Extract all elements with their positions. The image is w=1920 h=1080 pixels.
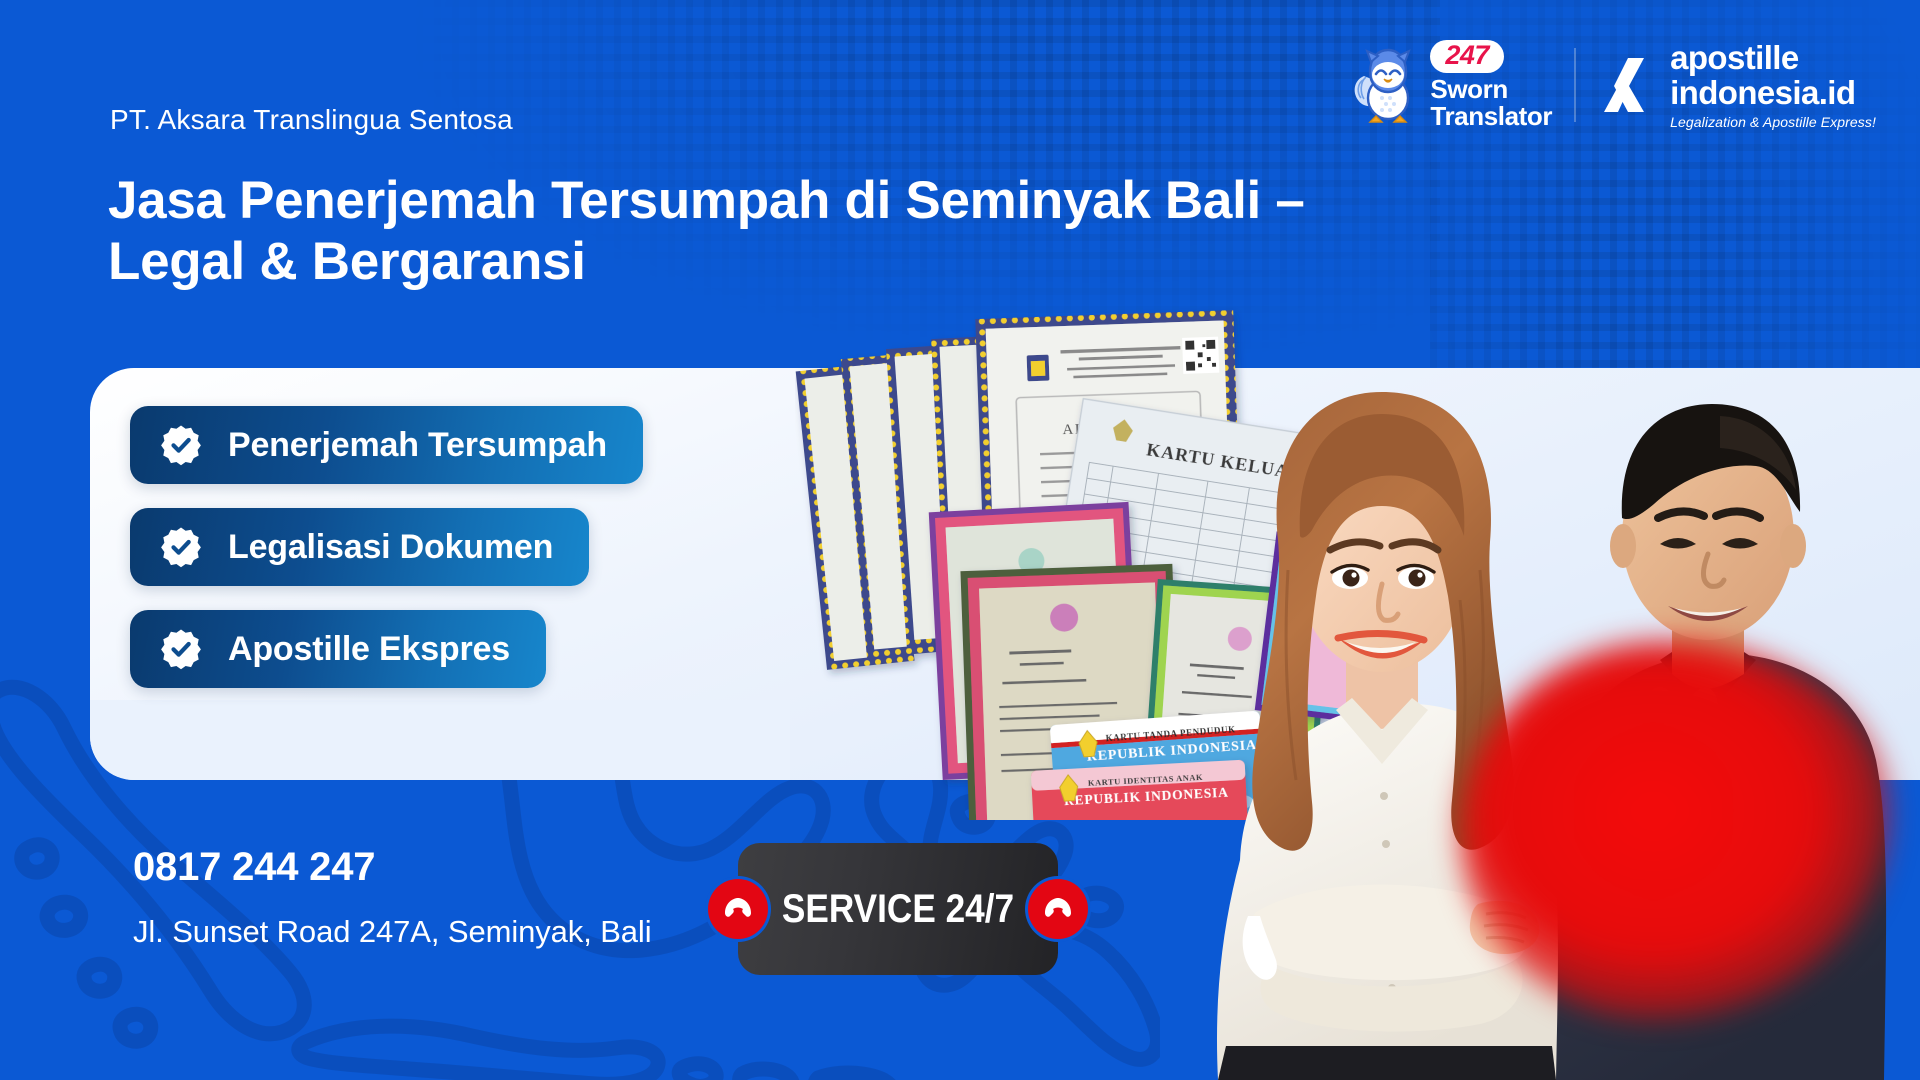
verified-check-badge-icon [160,424,202,466]
content-panel-bottom-corner [90,700,790,780]
verified-check-badge-icon [160,526,202,568]
logo-247-sworn-translator[interactable]: 247 Sworn Translator [1350,40,1552,129]
phone-handset-icon-right [1028,879,1088,939]
feature-list: Penerjemah Tersumpah Legalisasi Dokumen … [130,406,643,712]
apostille-a-mark-icon [1598,56,1656,114]
logo-247-badge: 247 [1430,40,1504,73]
contact-address: Jl. Sunset Road 247A, Seminyak, Bali [133,914,652,950]
feature-pill-penerjemah-tersumpah[interactable]: Penerjemah Tersumpah [130,406,643,484]
logo-translator-text: Translator [1430,103,1552,129]
headline-line-1: Jasa Penerjemah Tersumpah di Seminyak Ba… [108,171,1305,230]
logo-divider [1574,48,1576,122]
feature-pill-legalisasi-dokumen[interactable]: Legalisasi Dokumen [130,508,589,586]
logo-sworn-text: Sworn [1430,76,1552,102]
phone-handset-icon-left [708,879,768,939]
logo-apostille-indonesia[interactable]: apostille indonesia.id Legalization & Ap… [1598,41,1876,129]
contact-phone[interactable]: 0817 244 247 [133,845,375,890]
staff-photo [1160,240,1920,1080]
logo-apostille-line-2: indonesia.id [1670,76,1876,109]
company-name: PT. Aksara Translingua Sentosa [110,104,513,136]
promo-banner: PT. Aksara Translingua Sentosa Jasa Pene… [0,0,1920,1080]
feature-pill-label: Penerjemah Tersumpah [228,426,607,465]
feature-pill-label: Legalisasi Dokumen [228,528,553,567]
service-badge-label: SERVICE 24/7 [757,843,1039,975]
feature-pill-apostille-ekspres[interactable]: Apostille Ekspres [130,610,546,688]
logo-apostille-tagline: Legalization & Apostille Express! [1670,115,1876,129]
service-24-7-badge[interactable]: SERVICE 24/7 [738,843,1058,975]
feature-pill-label: Apostille Ekspres [228,630,510,669]
owl-icon [1350,46,1420,124]
verified-check-badge-icon [160,628,202,670]
logo-apostille-line-1: apostille [1670,41,1876,74]
logo-group: 247 Sworn Translator apostille indonesia… [1350,40,1876,129]
